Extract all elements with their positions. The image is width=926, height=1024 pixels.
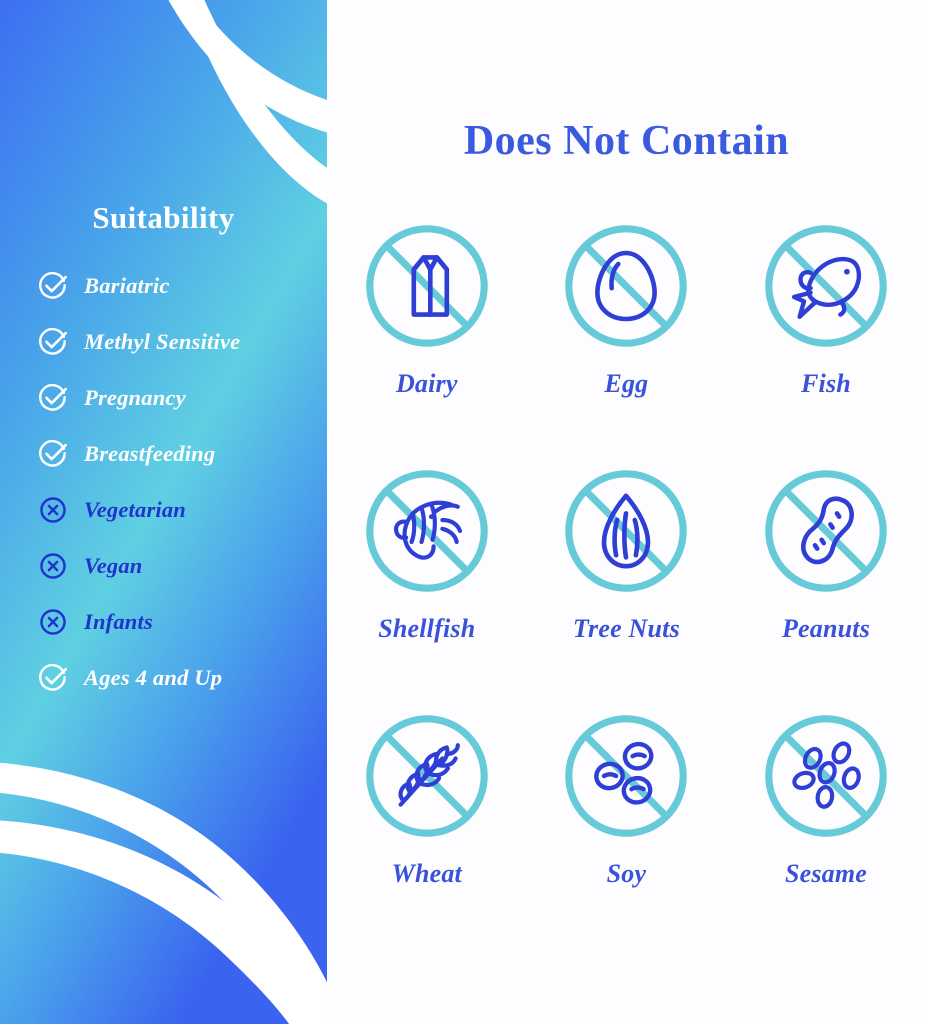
check-circle-icon [38,271,68,301]
allergen-cell-shellfish[interactable]: Shellfish [327,460,527,705]
does-not-contain-section: Does Not Contain Dairy [327,0,926,1024]
suitability-panel: Suitability Bariatric Methyl [0,0,327,1024]
suitability-item-methyl-sensitive[interactable]: Methyl Sensitive [38,322,327,361]
allergen-cell-dairy[interactable]: Dairy [327,215,527,460]
allergen-cell-sesame[interactable]: Sesame [726,705,926,950]
suitability-item-breastfeeding[interactable]: Breastfeeding [38,434,327,473]
suitability-item-pregnancy[interactable]: Pregnancy [38,378,327,417]
allergen-cell-tree-nuts[interactable]: Tree Nuts [527,460,727,705]
allergen-row: Dairy Egg [327,215,926,460]
allergen-cell-egg[interactable]: Egg [527,215,727,460]
sesame-seeds-icon [760,710,892,842]
suitability-item-label: Vegetarian [84,497,186,523]
check-circle-icon [38,439,68,469]
allergen-row: Wheat S [327,705,926,950]
suitability-item-label: Breastfeeding [84,441,215,467]
peanut-icon [760,465,892,597]
almond-icon [560,465,692,597]
suitability-item-infants[interactable]: Infants [38,602,327,641]
suitability-item-ages-4-and-up[interactable]: Ages 4 and Up [38,658,327,697]
milk-carton-icon [361,220,493,352]
soybean-icon [560,710,692,842]
suitability-item-label: Infants [84,609,153,635]
allergen-label: Dairy [396,369,458,399]
wheat-icon [361,710,493,842]
allergen-cell-soy[interactable]: Soy [527,705,727,950]
allergen-cell-wheat[interactable]: Wheat [327,705,527,950]
allergen-label: Tree Nuts [573,614,680,644]
allergen-label: Peanuts [782,614,870,644]
check-circle-icon [38,663,68,693]
cross-circle-icon [38,607,68,637]
check-circle-icon [38,383,68,413]
cross-circle-icon [38,551,68,581]
egg-icon [560,220,692,352]
suitability-item-label: Pregnancy [84,385,186,411]
suitability-item-label: Vegan [84,553,143,579]
suitability-item-bariatric[interactable]: Bariatric [38,266,327,305]
suitability-allergen-infographic: Suitability Bariatric Methyl [0,0,926,1024]
suitability-item-label: Methyl Sensitive [84,329,240,355]
suitability-item-label: Ages 4 and Up [84,665,222,691]
panel-title: Suitability [0,200,327,236]
allergen-cell-peanuts[interactable]: Peanuts [726,460,926,705]
check-circle-icon [38,327,68,357]
allergen-grid: Dairy Egg [327,215,926,950]
suitability-item-label: Bariatric [84,273,170,299]
allergen-label: Sesame [785,859,867,889]
shrimp-icon [361,465,493,597]
allergen-label: Wheat [392,859,462,889]
suitability-item-vegetarian[interactable]: Vegetarian [38,490,327,529]
allergen-row: Shellfish Tree Nuts [327,460,926,705]
cross-circle-icon [38,495,68,525]
fish-icon [760,220,892,352]
suitability-list: Bariatric Methyl Sensitive P [38,266,327,714]
allergen-label: Egg [604,369,648,399]
page-title: Does Not Contain [327,117,926,165]
allergen-label: Soy [607,859,647,889]
allergen-label: Shellfish [378,614,475,644]
suitability-item-vegan[interactable]: Vegan [38,546,327,585]
allergen-cell-fish[interactable]: Fish [726,215,926,460]
allergen-label: Fish [801,369,851,399]
